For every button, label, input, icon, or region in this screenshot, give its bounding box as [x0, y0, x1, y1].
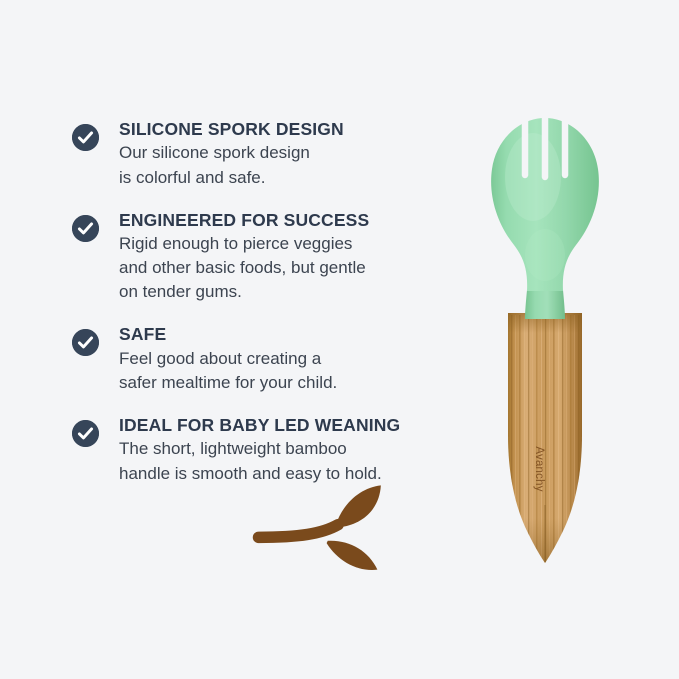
feature-description-line: on tender gums. [119, 280, 472, 304]
feature-title: IDEAL FOR BABY LED WEANING [119, 414, 472, 436]
feature-description-line: handle is smooth and easy to hold. [119, 462, 472, 486]
spork-handle-bamboo [508, 313, 582, 565]
feature-title: SAFE [119, 323, 472, 345]
feature-description-line: Our silicone spork design [119, 141, 472, 165]
feature-description: Rigid enough to pierce veggies and other… [119, 232, 472, 304]
feature-list: SILICONE SPORK DESIGN Our silicone spork… [72, 118, 472, 486]
check-circle-icon [72, 215, 99, 242]
feature-description-line: Rigid enough to pierce veggies [119, 232, 472, 256]
feature-item: SILICONE SPORK DESIGN Our silicone spork… [72, 118, 472, 190]
feature-title: SILICONE SPORK DESIGN [119, 118, 472, 140]
feature-item: SAFE Feel good about creating a safer me… [72, 323, 472, 395]
feature-description-line: safer mealtime for your child. [119, 371, 472, 395]
feature-description-line: Feel good about creating a [119, 347, 472, 371]
feature-description-line: is colorful and safe. [119, 166, 472, 190]
feature-item: ENGINEERED FOR SUCCESS Rigid enough to p… [72, 209, 472, 305]
feature-title: ENGINEERED FOR SUCCESS [119, 209, 472, 231]
check-circle-icon [72, 329, 99, 356]
feature-description: Feel good about creating a safer mealtim… [119, 347, 472, 395]
check-circle-icon [72, 124, 99, 151]
product-feature-graphic: SILICONE SPORK DESIGN Our silicone spork… [0, 0, 679, 679]
feature-description-line: and other basic foods, but gentle [119, 256, 472, 280]
feature-description: Our silicone spork design is colorful an… [119, 141, 472, 189]
feature-description-line: The short, lightweight bamboo [119, 437, 472, 461]
spork-head-silicone [491, 110, 599, 319]
feature-item: IDEAL FOR BABY LED WEANING The short, li… [72, 414, 472, 486]
check-circle-icon [72, 420, 99, 447]
feature-description: The short, lightweight bamboo handle is … [119, 437, 472, 485]
product-photo-spork: Avanchy [470, 105, 620, 575]
